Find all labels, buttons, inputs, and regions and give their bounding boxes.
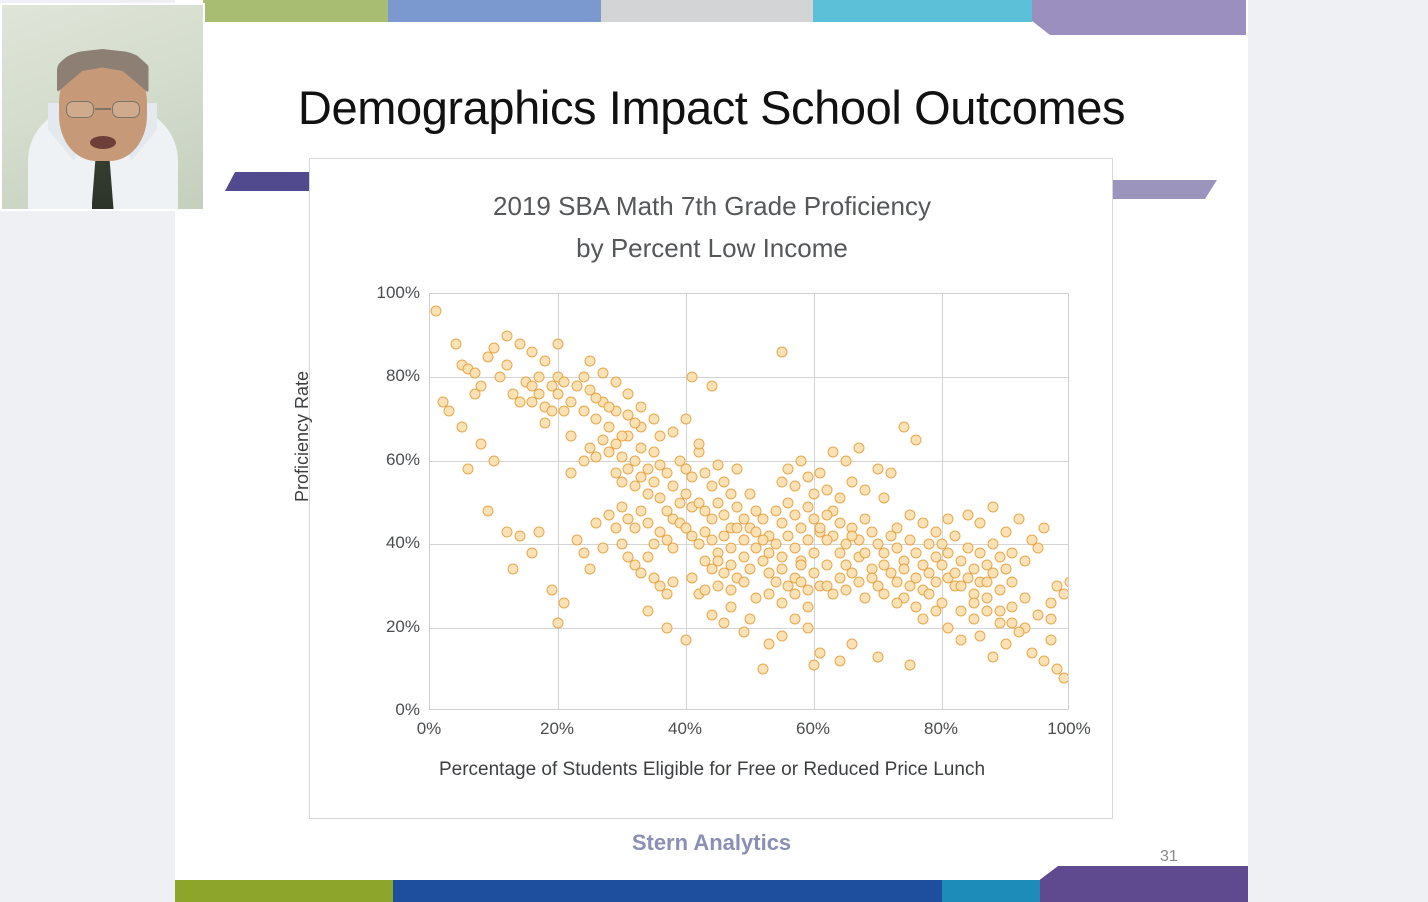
scatter-point xyxy=(661,622,672,633)
scatter-point xyxy=(444,405,455,416)
scatter-point xyxy=(719,510,730,521)
scatter-point xyxy=(892,543,903,554)
scatter-point xyxy=(540,418,551,429)
gridline-horizontal xyxy=(430,628,1068,629)
y-axis-tick-label: 80% xyxy=(352,366,420,386)
scatter-point xyxy=(841,560,852,571)
scatter-point xyxy=(847,530,858,541)
scatter-point xyxy=(713,580,724,591)
scatter-point xyxy=(911,601,922,612)
scatter-point xyxy=(559,597,570,608)
scatter-point xyxy=(501,359,512,370)
scatter-point xyxy=(636,568,647,579)
scatter-point xyxy=(629,418,640,429)
scatter-point xyxy=(1045,597,1056,608)
scatter-point xyxy=(834,655,845,666)
scatter-plot-area xyxy=(429,293,1069,710)
scatter-point xyxy=(751,593,762,604)
top-accent-tab-purple xyxy=(1032,0,1246,35)
scatter-point xyxy=(975,518,986,529)
scatter-point xyxy=(994,618,1005,629)
scatter-point xyxy=(591,414,602,425)
scatter-point xyxy=(514,339,525,350)
scatter-point xyxy=(828,447,839,458)
scatter-point xyxy=(994,605,1005,616)
scatter-point xyxy=(885,468,896,479)
scatter-point xyxy=(879,547,890,558)
scatter-point xyxy=(789,510,800,521)
scatter-point xyxy=(860,514,871,525)
presenter-video[interactable] xyxy=(0,3,205,211)
scatter-point xyxy=(802,601,813,612)
scatter-point xyxy=(629,522,640,533)
scatter-point xyxy=(732,501,743,512)
scatter-point xyxy=(642,605,653,616)
scatter-point xyxy=(898,564,909,575)
scatter-point xyxy=(661,589,672,600)
chart-title-line2: by Percent Low Income xyxy=(310,227,1114,269)
scatter-point xyxy=(604,510,615,521)
scatter-point xyxy=(713,459,724,470)
scatter-point xyxy=(546,585,557,596)
scatter-point xyxy=(469,389,480,400)
scatter-point xyxy=(604,401,615,412)
scatter-point xyxy=(1045,614,1056,625)
scatter-point xyxy=(988,501,999,512)
scatter-point xyxy=(834,572,845,583)
scatter-point xyxy=(1058,589,1069,600)
scatter-point xyxy=(949,530,960,541)
scatter-point xyxy=(700,468,711,479)
scatter-point xyxy=(789,543,800,554)
scatter-point xyxy=(949,568,960,579)
scatter-point xyxy=(981,593,992,604)
scatter-point xyxy=(777,564,788,575)
scatter-point xyxy=(1007,618,1018,629)
scatter-point xyxy=(988,539,999,550)
scatter-point xyxy=(649,476,660,487)
scatter-point xyxy=(1001,564,1012,575)
scatter-point xyxy=(834,547,845,558)
bottom-accent-bar-blue xyxy=(393,880,942,902)
scatter-point xyxy=(745,614,756,625)
scatter-point xyxy=(892,522,903,533)
scatter-point xyxy=(969,597,980,608)
scatter-point xyxy=(1045,635,1056,646)
scatter-point xyxy=(815,522,826,533)
scatter-point xyxy=(841,455,852,466)
presenter-mouth xyxy=(90,136,116,149)
scatter-point xyxy=(994,551,1005,562)
scatter-point xyxy=(738,551,749,562)
scatter-point xyxy=(1039,522,1050,533)
scatter-point xyxy=(514,530,525,541)
scatter-point xyxy=(585,355,596,366)
scatter-point xyxy=(623,464,634,475)
scatter-point xyxy=(777,476,788,487)
scatter-point xyxy=(911,547,922,558)
scatter-point xyxy=(860,547,871,558)
scatter-point xyxy=(975,547,986,558)
gridline-horizontal xyxy=(430,461,1068,462)
scatter-point xyxy=(713,497,724,508)
scatter-point xyxy=(501,526,512,537)
scatter-point xyxy=(745,489,756,500)
scatter-point xyxy=(591,451,602,462)
scatter-point xyxy=(770,576,781,587)
top-accent-bar-gray xyxy=(601,0,813,22)
scatter-point xyxy=(930,576,941,587)
scatter-point xyxy=(732,522,743,533)
scatter-point xyxy=(821,535,832,546)
scatter-point xyxy=(527,547,538,558)
gridline-vertical xyxy=(558,294,559,709)
y-axis-label: Proficiency Rate xyxy=(292,371,313,502)
scatter-point xyxy=(841,585,852,596)
scatter-point xyxy=(572,535,583,546)
scatter-point xyxy=(994,585,1005,596)
scatter-point xyxy=(585,564,596,575)
scatter-point xyxy=(617,430,628,441)
scatter-point xyxy=(489,455,500,466)
scatter-point xyxy=(623,389,634,400)
scatter-point xyxy=(757,535,768,546)
x-axis-tick-label: 80% xyxy=(896,719,986,739)
scatter-point xyxy=(501,330,512,341)
scatter-point xyxy=(815,468,826,479)
scatter-point xyxy=(649,539,660,550)
gridline-vertical xyxy=(942,294,943,709)
scatter-point xyxy=(834,518,845,529)
scatter-point xyxy=(834,493,845,504)
scatter-point xyxy=(591,393,602,404)
scatter-point xyxy=(821,484,832,495)
scatter-point xyxy=(892,576,903,587)
scatter-point xyxy=(956,555,967,566)
scatter-point xyxy=(1026,647,1037,658)
scatter-point xyxy=(725,543,736,554)
scatter-point xyxy=(898,422,909,433)
scatter-point xyxy=(1033,543,1044,554)
scatter-point xyxy=(732,464,743,475)
presenter-glasses xyxy=(66,101,140,119)
scatter-point xyxy=(636,472,647,483)
scatter-point xyxy=(757,514,768,525)
x-axis-tick-label: 40% xyxy=(640,719,730,739)
scatter-point xyxy=(956,635,967,646)
scatter-point xyxy=(911,572,922,583)
scatter-point xyxy=(917,614,928,625)
scatter-point xyxy=(725,601,736,612)
glasses-bridge xyxy=(95,108,111,110)
gridline-vertical xyxy=(686,294,687,709)
scatter-point xyxy=(770,539,781,550)
scatter-point xyxy=(879,589,890,600)
scatter-point xyxy=(777,597,788,608)
scatter-point xyxy=(988,651,999,662)
x-axis-tick-label: 60% xyxy=(768,719,858,739)
scatter-point xyxy=(764,589,775,600)
scatter-point xyxy=(553,618,564,629)
scatter-point xyxy=(617,451,628,462)
scatter-point xyxy=(540,355,551,366)
scatter-point xyxy=(597,368,608,379)
scatter-point xyxy=(930,526,941,537)
scatter-point xyxy=(578,405,589,416)
scatter-point xyxy=(489,343,500,354)
y-axis-tick-label: 40% xyxy=(352,533,420,553)
scatter-point xyxy=(553,339,564,350)
scatter-point xyxy=(853,443,864,454)
scatter-point xyxy=(642,518,653,529)
scatter-point xyxy=(725,560,736,571)
scatter-point xyxy=(687,572,698,583)
x-axis-tick-label: 100% xyxy=(1024,719,1114,739)
scatter-point xyxy=(597,543,608,554)
scatter-point xyxy=(649,414,660,425)
scatter-point xyxy=(636,505,647,516)
scatter-point xyxy=(937,560,948,571)
scatter-point xyxy=(578,372,589,383)
scatter-point xyxy=(981,576,992,587)
scatter-point xyxy=(809,489,820,500)
right-accent-shape xyxy=(1105,180,1217,199)
gridline-vertical xyxy=(814,294,815,709)
scatter-point xyxy=(905,535,916,546)
y-axis-tick-label: 60% xyxy=(352,450,420,470)
top-accent-bar-blue xyxy=(388,0,601,22)
scatter-point xyxy=(681,414,692,425)
scatter-point xyxy=(802,535,813,546)
scatter-point xyxy=(431,305,442,316)
scatter-point xyxy=(649,447,660,458)
scatter-point xyxy=(783,497,794,508)
scatter-point xyxy=(873,651,884,662)
scatter-point xyxy=(796,576,807,587)
scatter-point xyxy=(873,464,884,475)
scatter-point xyxy=(514,397,525,408)
glasses-lens-left xyxy=(66,101,94,118)
x-axis-tick-label: 20% xyxy=(512,719,602,739)
scatter-point xyxy=(738,626,749,637)
scatter-point xyxy=(802,472,813,483)
scatter-point xyxy=(706,514,717,525)
x-axis-label: Percentage of Students Eligible for Free… xyxy=(310,759,1114,781)
scatter-point xyxy=(610,376,621,387)
scatter-point xyxy=(713,555,724,566)
scatter-point xyxy=(687,472,698,483)
scatter-point xyxy=(975,630,986,641)
scatter-point xyxy=(802,501,813,512)
scatter-point xyxy=(1039,655,1050,666)
y-axis-tick-label: 100% xyxy=(352,283,420,303)
scatter-point xyxy=(745,564,756,575)
scatter-point xyxy=(463,464,474,475)
scatter-point xyxy=(681,635,692,646)
scatter-point xyxy=(546,405,557,416)
scatter-point xyxy=(508,564,519,575)
scatter-point xyxy=(981,605,992,616)
scatter-point xyxy=(1001,526,1012,537)
scatter-point xyxy=(610,522,621,533)
scatter-point xyxy=(495,372,506,383)
scatter-point xyxy=(527,347,538,358)
scatter-point xyxy=(1013,514,1024,525)
scatter-point xyxy=(866,572,877,583)
scatter-point xyxy=(777,630,788,641)
scatter-point xyxy=(719,476,730,487)
bottom-accent-tab-purple xyxy=(1040,866,1248,902)
scatter-point xyxy=(700,585,711,596)
scatter-point xyxy=(636,443,647,454)
scatter-point xyxy=(956,605,967,616)
scatter-point xyxy=(578,455,589,466)
scatter-point xyxy=(770,505,781,516)
scatter-point xyxy=(802,622,813,633)
scatter-point xyxy=(757,664,768,675)
scatter-point xyxy=(661,468,672,479)
scatter-point xyxy=(687,372,698,383)
y-axis-tick-label: 20% xyxy=(352,617,420,637)
scatter-point xyxy=(789,589,800,600)
scatter-point xyxy=(1007,601,1018,612)
scatter-point xyxy=(482,505,493,516)
scatter-point xyxy=(681,489,692,500)
top-accent-bar-green xyxy=(203,0,388,22)
scatter-point xyxy=(553,389,564,400)
scatter-point xyxy=(591,518,602,529)
scatter-point xyxy=(1020,555,1031,566)
scatter-point xyxy=(450,339,461,350)
scatter-point xyxy=(738,576,749,587)
scatter-point xyxy=(783,530,794,541)
scatter-point xyxy=(693,439,704,450)
scatter-point xyxy=(655,493,666,504)
scatter-point xyxy=(796,522,807,533)
scatter-point xyxy=(719,618,730,629)
scatter-point xyxy=(943,622,954,633)
scatter-point xyxy=(533,526,544,537)
scatter-point xyxy=(604,422,615,433)
scatter-point xyxy=(719,530,730,541)
chart-title: 2019 SBA Math 7th Grade Proficiency by P… xyxy=(310,185,1114,269)
y-axis-tick-label: 0% xyxy=(352,700,420,720)
scatter-point xyxy=(636,401,647,412)
scatter-point xyxy=(879,493,890,504)
scatter-point xyxy=(796,455,807,466)
scatter-point xyxy=(905,510,916,521)
screen: Demographics Impact School Outcomes 2019… xyxy=(0,0,1428,902)
scatter-point xyxy=(725,585,736,596)
glasses-lens-right xyxy=(112,101,140,118)
scatter-point xyxy=(559,376,570,387)
scatter-point xyxy=(1058,672,1069,683)
scatter-point xyxy=(847,476,858,487)
chart-container: 2019 SBA Math 7th Grade Proficiency by P… xyxy=(309,158,1113,819)
scatter-point xyxy=(617,476,628,487)
bottom-accent-bar-green xyxy=(175,880,393,902)
scatter-point xyxy=(533,372,544,383)
scatter-point xyxy=(777,551,788,562)
scatter-point xyxy=(905,660,916,671)
chart-title-line1: 2019 SBA Math 7th Grade Proficiency xyxy=(310,185,1114,227)
scatter-point xyxy=(565,397,576,408)
scatter-point xyxy=(853,576,864,587)
scatter-point xyxy=(706,610,717,621)
scatter-point xyxy=(777,518,788,529)
scatter-point xyxy=(962,543,973,554)
scatter-point xyxy=(860,484,871,495)
top-accent-bar-cyan xyxy=(813,0,1032,22)
scatter-point xyxy=(693,539,704,550)
scatter-point xyxy=(924,539,935,550)
scatter-point xyxy=(668,576,679,587)
presentation-slide: Demographics Impact School Outcomes 2019… xyxy=(175,0,1248,902)
scatter-point xyxy=(911,434,922,445)
brand-footer: Stern Analytics xyxy=(175,830,1248,856)
scatter-point xyxy=(943,514,954,525)
scatter-point xyxy=(828,589,839,600)
scatter-point xyxy=(597,434,608,445)
scatter-point xyxy=(969,614,980,625)
scatter-point xyxy=(533,389,544,400)
scatter-point xyxy=(469,368,480,379)
scatter-point xyxy=(1007,547,1018,558)
scatter-point xyxy=(796,560,807,571)
scatter-point xyxy=(777,347,788,358)
scatter-point xyxy=(706,380,717,391)
scatter-point xyxy=(962,572,973,583)
slide-number: 31 xyxy=(1160,848,1178,866)
scatter-point xyxy=(815,647,826,658)
scatter-point xyxy=(1020,593,1031,604)
scatter-point xyxy=(706,480,717,491)
scatter-point xyxy=(1001,639,1012,650)
scatter-point xyxy=(738,535,749,546)
scatter-point xyxy=(789,614,800,625)
scatter-point xyxy=(943,547,954,558)
scatter-point xyxy=(1033,610,1044,621)
scatter-point xyxy=(1065,576,1070,587)
scatter-point xyxy=(789,480,800,491)
scatter-point xyxy=(668,543,679,554)
scatter-point xyxy=(783,464,794,475)
scatter-point xyxy=(617,539,628,550)
scatter-point xyxy=(809,660,820,671)
scatter-point xyxy=(809,547,820,558)
scatter-point xyxy=(809,568,820,579)
scatter-point xyxy=(860,593,871,604)
scatter-point xyxy=(578,547,589,558)
scatter-point xyxy=(924,589,935,600)
page-title: Demographics Impact School Outcomes xyxy=(175,80,1248,135)
scatter-point xyxy=(930,605,941,616)
scatter-point xyxy=(917,518,928,529)
scatter-point xyxy=(668,480,679,491)
scatter-point xyxy=(457,422,468,433)
scatter-point xyxy=(821,510,832,521)
scatter-point xyxy=(821,560,832,571)
scatter-point xyxy=(642,551,653,562)
scatter-point xyxy=(866,526,877,537)
scatter-point xyxy=(764,639,775,650)
scatter-point xyxy=(565,468,576,479)
scatter-point xyxy=(706,535,717,546)
scatter-point xyxy=(962,510,973,521)
scatter-point xyxy=(668,426,679,437)
scatter-point xyxy=(892,597,903,608)
scatter-point xyxy=(565,430,576,441)
